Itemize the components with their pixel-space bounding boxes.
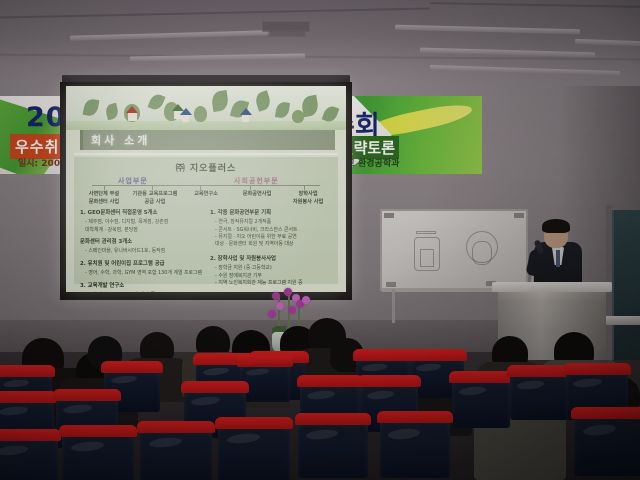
slide-divider — [74, 153, 338, 155]
slide-content-columns: 1. GEO문화센터 직접운영 5개소 - 제주점, 이수점, 디지털, 목계점… — [80, 209, 332, 292]
speaker-hair — [542, 219, 570, 233]
bullet-item: 2. 유치원 및 어린이집 프로그램 공급 — [80, 260, 202, 268]
bullet-sub: - 장학금 지원 (중·고등학교) — [210, 265, 332, 272]
projected-slide: 회사 소개 ㈜ 지오플러스 사업부문 사회공헌부문 사면단체 부설 문화센터 사… — [66, 86, 346, 292]
org-chart-branches: 사면단체 부설 문화센터 사업 기관용 교육프로그램 공급 사업 교육연구소 문… — [80, 191, 332, 207]
whiteboard-sketch — [472, 241, 492, 265]
slide-title: 회사 소개 — [91, 132, 150, 148]
bullet-sub: 대학체계 · 강북점, 분당점 — [80, 227, 202, 234]
slide-house-icon — [242, 114, 249, 122]
lectern-top — [492, 282, 612, 292]
ceiling-vent — [268, 30, 306, 37]
slide-right-column: 1. 각종 문화공연부문 기획 - 연극, 창작뮤지컬 2개작품 - 콘서트 ·… — [210, 209, 332, 292]
bullet-sub: - 제주점, 이수점, 디지털, 목계점, 강촌점 — [80, 219, 202, 226]
bullet-sub: - 영어, 수학, 과학, GYM 영역 포함 130개 계열 프로그램 — [80, 270, 202, 277]
slide-house-icon — [182, 114, 189, 122]
teal-side-door[interactable] — [612, 210, 640, 360]
org-branch: 교육연구소 — [182, 191, 230, 207]
auditorium-seat[interactable] — [510, 372, 568, 420]
slide-title-bar: 회사 소개 — [80, 130, 335, 150]
fluorescent-light-fixture — [575, 39, 640, 46]
fluorescent-light-fixture — [70, 30, 270, 41]
org-branch: 장학사업 자원봉사 사업 — [284, 191, 332, 207]
bullet-item: 3. 교육개발 연구소 — [80, 282, 202, 290]
slide-header-illustration — [66, 86, 346, 130]
org-branch: 사면단체 부설 문화센터 사업 — [80, 191, 128, 207]
slide-house-icon — [128, 112, 137, 121]
bullet-sub: - 지역 노인복지회관 재능 프로그램 지원 중 — [210, 280, 332, 287]
auditorium-seat[interactable] — [240, 362, 290, 402]
org-branch: 문화공연사업 — [233, 191, 281, 207]
whiteboard — [380, 209, 528, 291]
auditorium-seat[interactable] — [452, 378, 510, 428]
bullet-sub: - 수원 장애복지관 기부 — [210, 273, 332, 280]
auditorium-seat[interactable] — [0, 436, 58, 480]
slide-company-name: ㈜ 지오플러스 — [74, 161, 338, 174]
auditorium-seat[interactable] — [218, 424, 290, 480]
fluorescent-light-fixture — [430, 65, 620, 76]
slide-body: ㈜ 지오플러스 사업부문 사회공헌부문 사면단체 부설 문화센터 사업 기관용 … — [74, 157, 338, 284]
auditorium-seat[interactable] — [140, 428, 212, 480]
org-chart-connector — [92, 185, 320, 186]
bullet-sub: - 스페인마을, 유니버시아드1호, 동작점 — [80, 248, 202, 255]
bullet-sub: - 연극, 창작뮤지컬 2개작품 — [210, 219, 332, 226]
speaker-tie — [556, 250, 560, 267]
bullet-sub: 대상 · 문화센터 회원 및 지역아동 대상 — [210, 241, 332, 248]
bullet-item: 1. GEO문화센터 직접운영 5개소 — [80, 209, 202, 217]
whiteboard-sketch — [420, 249, 434, 267]
auditorium-seat[interactable] — [298, 420, 368, 478]
slide-left-column: 1. GEO문화센터 직접운영 5개소 - 제주점, 이수점, 디지털, 목계점… — [80, 209, 202, 292]
whiteboard-sketch — [416, 231, 436, 234]
bullet-item: 문화센터 관리점 3개소 — [80, 238, 202, 246]
bullet-item: 1. 각종 문화공연부문 기획 — [210, 209, 332, 217]
auditorium-seat[interactable] — [380, 418, 450, 478]
org-branch: 기관용 교육프로그램 공급 사업 — [131, 191, 179, 207]
whiteboard-leg — [392, 289, 395, 323]
lecture-hall-photo: 200 우수취업 일시: 2009. 수회 공전략토론 대학교 환경공학과 — [0, 0, 640, 480]
bullet-item: 2. 장학사업 및 자원봉사사업 — [210, 255, 332, 263]
auditorium-seat[interactable] — [62, 432, 134, 480]
bullet-sub: - 콘서트 · SG워너비, 크라스한스 콘서트 — [210, 227, 332, 234]
auditorium-seat[interactable] — [574, 414, 640, 476]
fluorescent-light-fixture — [395, 25, 580, 35]
